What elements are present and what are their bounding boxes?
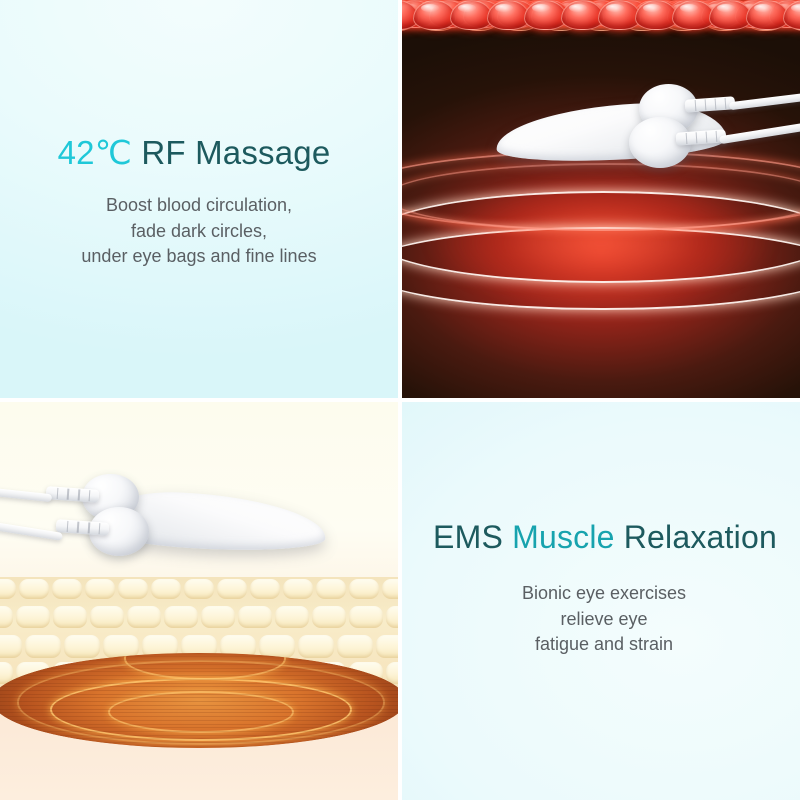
- skin-cell: [184, 579, 214, 599]
- muscle-striation: [0, 694, 398, 695]
- skin-cell: [349, 579, 379, 599]
- muscle-striation: [0, 675, 398, 676]
- skin-cell: [0, 662, 13, 684]
- skin-cell: [337, 635, 373, 658]
- ems-subcopy: Bionic eye exercises relieve eye fatigue…: [522, 581, 686, 658]
- skin-cell: [386, 606, 398, 628]
- muscle-striation: [0, 671, 398, 672]
- skin-cell: [312, 606, 346, 628]
- cable-ferrule: [685, 96, 735, 112]
- rf-subcopy-line-1: Boost blood circulation,: [81, 193, 316, 219]
- cable: [728, 91, 800, 110]
- cell: [783, 0, 800, 30]
- skin-cell-row: [0, 606, 398, 628]
- cable-ferrule: [55, 520, 109, 537]
- cable-ferrule: [45, 486, 99, 503]
- skin-cell: [118, 579, 148, 599]
- panel-ems-relaxation-text: EMS Muscle Relaxation Bionic eye exercis…: [402, 402, 800, 800]
- feature-collage: 42℃ RF Massage Boost blood circulation, …: [0, 0, 800, 800]
- muscle-striation: [0, 705, 398, 706]
- ems-subcopy-line-3: fatigue and strain: [522, 632, 686, 658]
- skin-cell: [259, 635, 295, 658]
- temperature-accent: 42℃: [58, 134, 132, 171]
- skin-cell: [25, 635, 61, 658]
- muscle-striation: [0, 668, 398, 669]
- cable: [0, 484, 52, 502]
- muscle-striation: [0, 720, 398, 721]
- skin-cell: [85, 579, 115, 599]
- skin-cell: [283, 579, 313, 599]
- skin-cell: [64, 635, 100, 658]
- skin-cell: [217, 579, 247, 599]
- muscle-striation: [0, 712, 398, 713]
- skin-cell: [0, 635, 22, 658]
- skin-cell: [386, 662, 398, 684]
- ems-headline-tail: Relaxation: [615, 519, 777, 555]
- skin-cell: [298, 635, 334, 658]
- muscle-accent: Muscle: [512, 519, 615, 555]
- skin-cell: [250, 579, 280, 599]
- muscle-striation: [0, 686, 398, 687]
- skin-cell: [151, 579, 181, 599]
- ems-subcopy-line-1: Bionic eye exercises: [522, 581, 686, 607]
- skin-cell: [52, 579, 82, 599]
- muscle-striation: [0, 679, 398, 680]
- muscle-bundle: [0, 653, 398, 749]
- skin-cell-row: [0, 579, 398, 599]
- skin-cell: [103, 635, 139, 658]
- rf-massage-subcopy: Boost blood circulation, fade dark circl…: [81, 193, 316, 270]
- muscle-striation: [0, 731, 398, 732]
- muscle-striation: [0, 701, 398, 702]
- muscle-striation: [0, 727, 398, 728]
- muscle-striation: [0, 724, 398, 725]
- panel-rf-massage-illustration: [402, 0, 800, 398]
- energy-ring: [402, 227, 800, 311]
- red-cell-row: [402, 0, 800, 30]
- muscle-striation: [0, 709, 398, 710]
- cable: [719, 122, 800, 144]
- massager-device: [0, 462, 326, 581]
- skin-cell: [382, 579, 398, 599]
- skin-cell: [127, 606, 161, 628]
- muscle-striation: [0, 690, 398, 691]
- panel-rf-massage-text: 42℃ RF Massage Boost blood circulation, …: [0, 0, 398, 398]
- skin-cell: [275, 606, 309, 628]
- skin-cell: [238, 606, 272, 628]
- rf-massage-headline-base: RF Massage: [132, 134, 330, 171]
- skin-cell: [0, 606, 13, 628]
- skin-cell: [53, 606, 87, 628]
- skin-cell: [0, 579, 16, 599]
- cable: [0, 515, 62, 541]
- panel-ems-illustration: [0, 402, 398, 800]
- skin-cell: [376, 635, 398, 658]
- muscle-striation: [0, 697, 398, 698]
- ems-subcopy-line-2: relieve eye: [522, 607, 686, 633]
- skin-cell: [164, 606, 198, 628]
- skin-cell: [349, 606, 383, 628]
- skin-cell: [316, 579, 346, 599]
- muscle-striation: [0, 683, 398, 684]
- rf-subcopy-line-3: under eye bags and fine lines: [81, 244, 316, 270]
- skin-cell: [19, 579, 49, 599]
- ems-relaxation-headline: EMS Muscle Relaxation: [433, 520, 777, 555]
- muscle-striation: [0, 716, 398, 717]
- rf-massage-headline: 42℃ RF Massage: [58, 135, 331, 171]
- massager-device: [490, 72, 800, 191]
- ems-headline-lead: EMS: [433, 519, 512, 555]
- skin-cell: [16, 606, 50, 628]
- skin-cell: [201, 606, 235, 628]
- energy-ring: [17, 660, 385, 744]
- skin-cell: [90, 606, 124, 628]
- muscle-striation: [0, 735, 398, 736]
- rf-subcopy-line-2: fade dark circles,: [81, 219, 316, 245]
